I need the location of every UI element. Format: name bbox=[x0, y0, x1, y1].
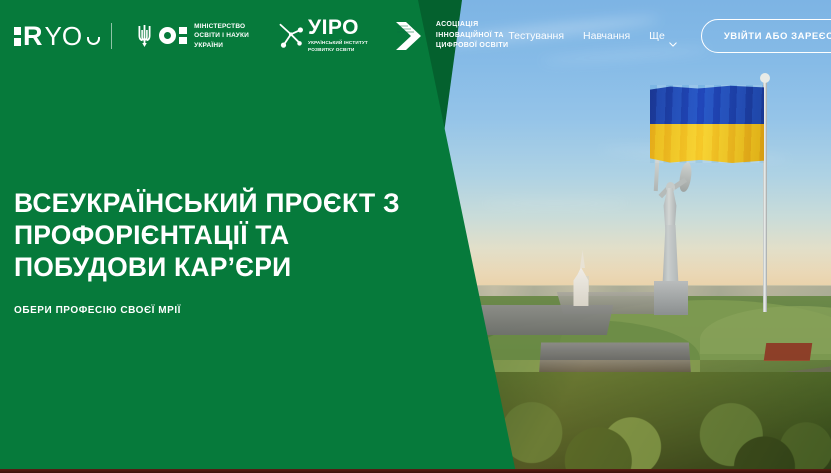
nav-item-more[interactable]: Ще bbox=[649, 30, 677, 42]
ukrainian-flag bbox=[650, 85, 764, 163]
logo-ministry-of-education[interactable]: МІНІСТЕРСТВО ОСВІТИ І НАУКИ УКРАЇНИ bbox=[137, 22, 249, 50]
logo-uiro-subtitle: УКРАЇНСЬКИЙ ІНСТИТУТ РОЗВИТКУ ОСВІТИ bbox=[308, 40, 368, 54]
page-title: ВСЕУКРАЇНСЬКИЙ ПРОЄКТ З ПРОФОРІЄНТАЦІЇ Т… bbox=[14, 188, 434, 283]
logo-uiro-text: УІРО УКРАЇНСЬКИЙ ІНСТИТУТ РОЗВИТКУ ОСВІТ… bbox=[308, 18, 368, 54]
uiro-line-1: УКРАЇНСЬКИЙ ІНСТИТУТ bbox=[308, 40, 368, 45]
ministry-line-1: МІНІСТЕРСТВО bbox=[194, 23, 245, 30]
motherland-monument bbox=[636, 140, 706, 315]
bottom-strip bbox=[0, 469, 831, 473]
plaza bbox=[467, 305, 613, 335]
logo-hryou[interactable]: R YO bbox=[14, 23, 100, 50]
logo-divider bbox=[111, 23, 112, 49]
flag-folds bbox=[650, 85, 764, 163]
nav-item-more-label: Ще bbox=[649, 30, 665, 42]
ministry-line-2: ОСВІТИ І НАУКИ bbox=[194, 32, 249, 39]
logo-hryou-word: YO bbox=[45, 23, 83, 49]
monument-pedestal bbox=[654, 281, 688, 315]
circle-squares-icon bbox=[159, 27, 187, 44]
page-title-line-2: ПРОФОРІЄНТАЦІЇ ТА ПОБУДОВИ КАР’ЄРИ bbox=[14, 220, 434, 284]
nav-item-testuvannya[interactable]: Тестування bbox=[508, 30, 564, 42]
logo-uiro-title: УІРО bbox=[308, 18, 368, 38]
association-line-1: АСОЦІАЦІЯ bbox=[436, 21, 479, 28]
red-roof-building bbox=[764, 343, 813, 361]
logo-association[interactable]: АСОЦІАЦІЯ ІННОВАЦІЙНОЇ ТА ЦИФРОВОЇ ОСВІТ… bbox=[394, 20, 508, 53]
main-nav: Тестування Навчання Ще УВІЙТИ АБО ЗАРЕЄС… bbox=[508, 19, 831, 53]
ukraine-trident-icon bbox=[137, 24, 152, 48]
smile-arc-icon bbox=[87, 37, 100, 45]
nav-item-navchannya[interactable]: Навчання bbox=[583, 30, 630, 42]
hero-copy: ВСЕУКРАЇНСЬКИЙ ПРОЄКТ З ПРОФОРІЄНТАЦІЇ Т… bbox=[14, 188, 434, 316]
monument-base bbox=[658, 225, 683, 285]
ministry-line-3: УКРАЇНИ bbox=[194, 42, 223, 49]
museum-building bbox=[539, 343, 691, 376]
chevron-down-icon bbox=[669, 34, 677, 39]
page-subtitle: ОБЕРИ ПРОФЕСІЮ СВОЄЇ МРІЇ bbox=[14, 305, 434, 316]
logo-association-text: АСОЦІАЦІЯ ІННОВАЦІЙНОЇ ТА ЦИФРОВОЇ ОСВІТ… bbox=[436, 20, 508, 53]
logo-hryou-letter: R bbox=[23, 23, 42, 50]
logo-ministry-text: МІНІСТЕРСТВО ОСВІТИ І НАУКИ УКРАЇНИ bbox=[194, 22, 249, 50]
logo-uiro[interactable]: УІРО УКРАЇНСЬКИЙ ІНСТИТУТ РОЗВИТКУ ОСВІТ… bbox=[277, 18, 368, 54]
association-line-2: ІННОВАЦІЙНОЇ ТА bbox=[436, 32, 504, 39]
uiro-node-icon bbox=[277, 22, 303, 50]
bars-r-icon bbox=[14, 27, 21, 46]
association-line-3: ЦИФРОВОЇ ОСВІТИ bbox=[436, 42, 508, 49]
flagpole-finial bbox=[760, 73, 770, 83]
partner-logos: R YO bbox=[0, 18, 508, 54]
chevron-arrow-icon bbox=[394, 21, 428, 51]
monument-shield bbox=[678, 161, 694, 192]
page-title-line-1: ВСЕУКРАЇНСЬКИЙ ПРОЄКТ З bbox=[14, 188, 434, 220]
site-header: R YO bbox=[0, 0, 831, 72]
login-register-button[interactable]: УВІЙТИ АБО ЗАРЕЄСТРУВАТИСЯ bbox=[701, 19, 831, 53]
hero-banner: R YO bbox=[0, 0, 831, 473]
uiro-line-2: РОЗВИТКУ ОСВІТИ bbox=[308, 47, 355, 52]
cloud bbox=[480, 200, 630, 207]
